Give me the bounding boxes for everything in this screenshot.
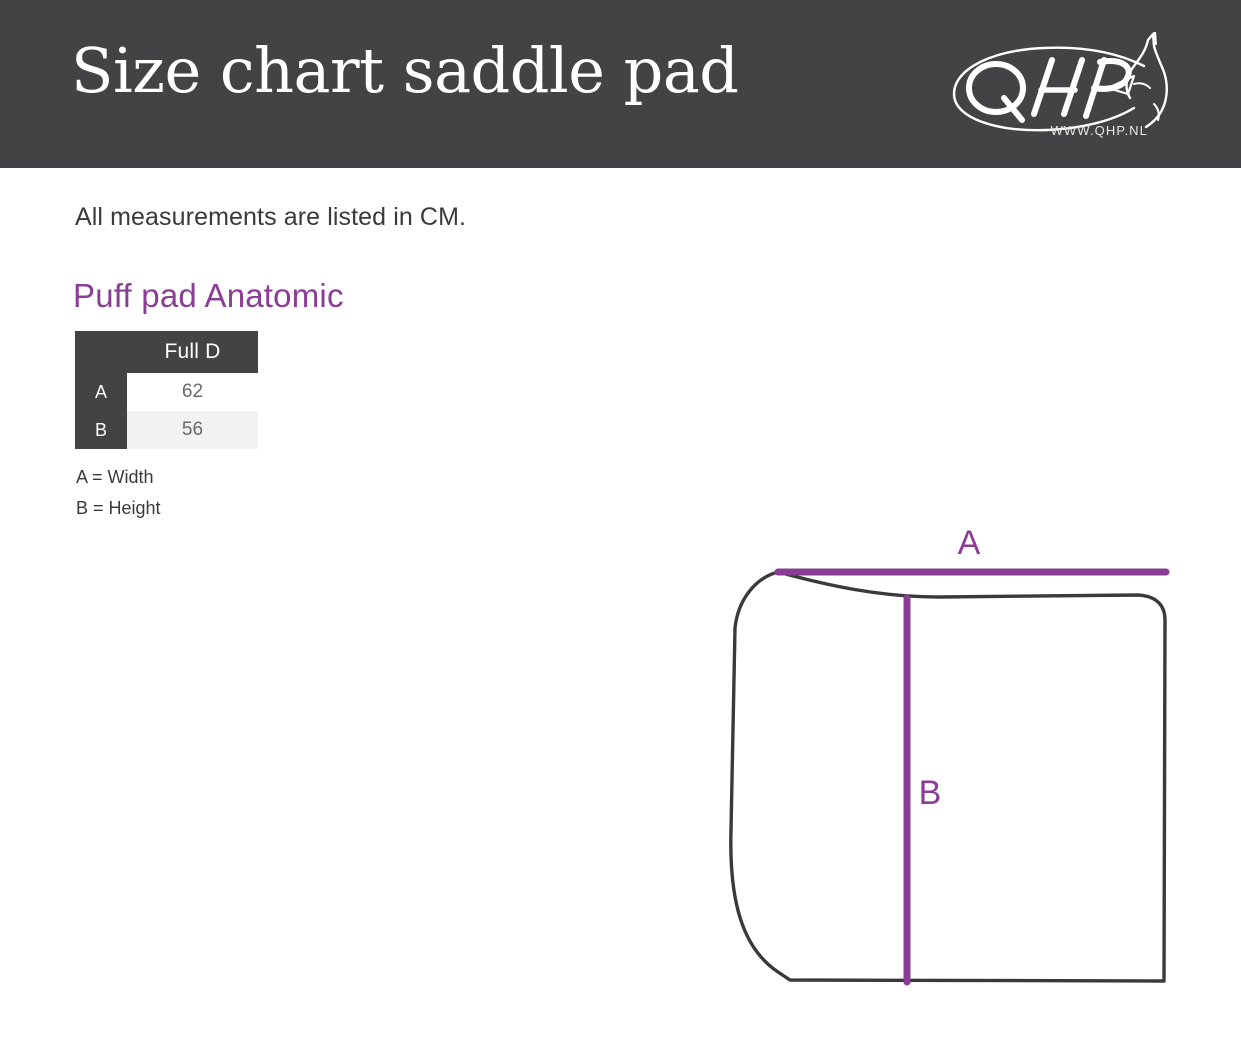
legend-line-b: B = Height — [76, 493, 161, 524]
size-table: Full D A 62 B 56 — [75, 331, 258, 449]
table-row: A 62 — [75, 373, 258, 411]
table-body: A 62 B 56 — [75, 373, 258, 449]
page-title: Size chart saddle pad — [71, 38, 738, 103]
measurement-note: All measurements are listed in CM. — [75, 203, 466, 232]
qhp-horse-logo: WWW.QHP.NL — [948, 32, 1170, 140]
table-header-row: Full D — [75, 331, 258, 373]
saddle-pad-diagram: A B — [700, 500, 1220, 1020]
width-dimension-label: A — [958, 524, 981, 562]
product-title: Puff pad Anatomic — [73, 277, 344, 315]
table-column-header-full-d: Full D — [127, 331, 258, 373]
table-row-label-b: B — [75, 411, 127, 449]
table-corner-cell — [75, 331, 127, 373]
logo-url-text: WWW.QHP.NL — [1051, 123, 1148, 138]
table-cell-a-full-d: 62 — [127, 373, 258, 411]
legend: A = Width B = Height — [76, 462, 161, 524]
legend-line-a: A = Width — [76, 462, 161, 493]
header-band: Size chart saddle pad WWW.QHP.NL — [0, 0, 1241, 168]
table-header: Full D — [75, 331, 258, 373]
table-cell-b-full-d: 56 — [127, 411, 258, 449]
table-row-label-a: A — [75, 373, 127, 411]
height-dimension-label: B — [919, 774, 942, 812]
pad-outline-path — [731, 572, 1165, 981]
table-row: B 56 — [75, 411, 258, 449]
